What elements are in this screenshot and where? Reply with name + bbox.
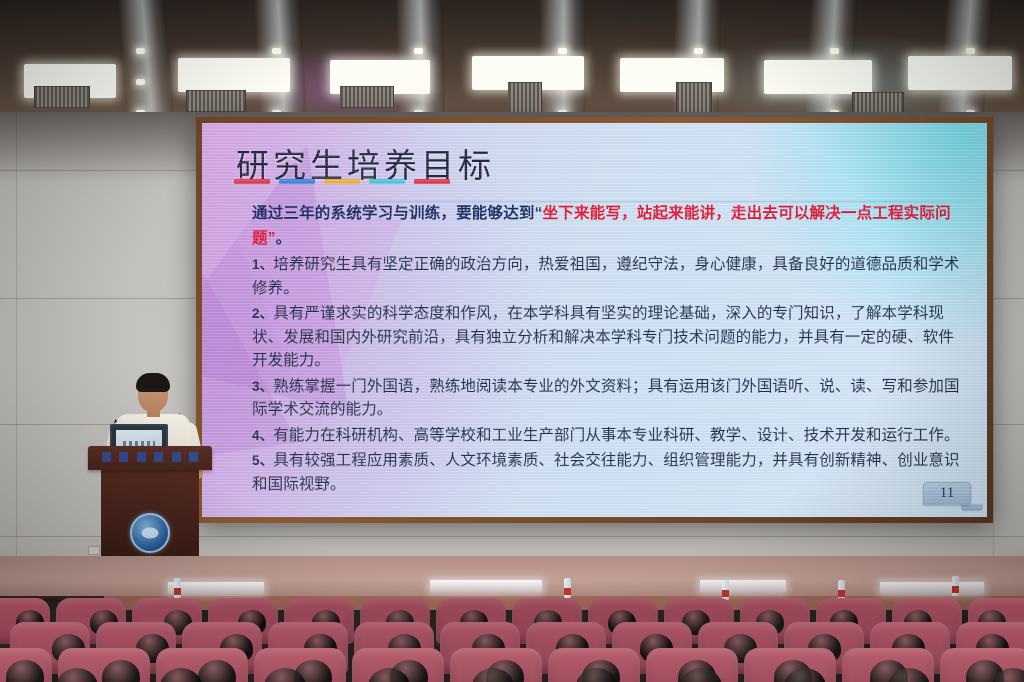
slide-body: 通过三年的系统学习与训练，要能够达到“坐下来能写，站起来能讲，走出去可以解决一点… — [252, 201, 965, 496]
slide-lead-paragraph: 通过三年的系统学习与训练，要能够达到“坐下来能写，站起来能讲，走出去可以解决一点… — [252, 201, 965, 251]
ceiling-downlight — [272, 48, 281, 54]
podium — [88, 446, 212, 568]
projection-screen: 研究生培养目标 通过三年的系统学习与训练，要能够达到“坐下来能写，站起来能讲，走… — [202, 123, 987, 517]
ceiling-downlight — [830, 48, 839, 54]
podium-lettering — [102, 452, 198, 463]
slide-item-text: 具有较强工程应用素质、人文环境素质、社会交往能力、组织管理能力，并具有创新精神、… — [252, 452, 960, 493]
accent-dash-5 — [414, 179, 450, 184]
ceiling-downlight — [558, 48, 567, 54]
ceiling-vent — [852, 92, 904, 114]
slide-item-5: 5、具有较强工程应用素质、人文环境素质、社会交往能力、组织管理能力，并具有创新精… — [252, 449, 965, 496]
slide-item-text: 具有严谨求实的科学态度和作风，在本学科具有坚实的理论基础，深入的专门知识，了解本… — [252, 305, 954, 369]
audience-water-bottle — [838, 580, 845, 600]
lecture-hall-photo: 研究生培养目标 通过三年的系统学习与训练，要能够达到“坐下来能写，站起来能讲，走… — [0, 0, 1024, 682]
ceiling-downlight — [966, 48, 975, 54]
lead-quote-close: ” — [268, 230, 276, 247]
accent-dash-2 — [279, 179, 315, 184]
ceiling-beam — [118, 0, 175, 122]
page-number-badge: 11 — [923, 482, 971, 505]
slide-item-3: 3、熟练掌握一门外国语，熟练地阅读本专业的外文资料；具有运用该门外国语听、说、读… — [252, 375, 965, 422]
slide-item-2: 2、具有严谨求实的科学态度和作风，在本学科具有坚实的理论基础，深入的专门知识，了… — [252, 302, 965, 373]
university-emblem-icon — [130, 513, 170, 553]
page-badge-tail — [961, 504, 983, 511]
slide-item-number: 4、 — [252, 428, 273, 443]
rear-light-strip — [168, 582, 264, 594]
rear-light-strip — [700, 580, 786, 592]
slide-item-4: 4、有能力在科研机构、高等学校和工业生产部门从事本专业科研、教学、设计、技术开发… — [252, 424, 965, 448]
audience-area — [0, 556, 1024, 682]
lead-normal-2: 。 — [276, 230, 292, 247]
accent-dash-3 — [324, 179, 360, 184]
rear-light-strip — [430, 580, 542, 592]
presenter-glasses — [140, 389, 167, 395]
slide-item-text: 培养研究生具有坚定正确的政治方向，热爱祖国，遵纪守法，身心健康，具备良好的道德品… — [252, 256, 960, 297]
ceiling-vent — [186, 90, 246, 112]
audience-water-bottle — [174, 578, 181, 598]
accent-dash-4 — [369, 179, 405, 184]
slide-item-list: 1、培养研究生具有坚定正确的政治方向，热爱祖国，遵纪守法，身心健康，具备良好的道… — [252, 253, 965, 496]
slide-item-number: 2、 — [252, 306, 273, 321]
audience-water-bottle — [564, 578, 571, 598]
ceiling-vent — [34, 86, 90, 108]
ceiling-panel-light — [908, 56, 1012, 90]
ceiling-panel-light — [764, 60, 872, 94]
ceiling-downlight — [136, 79, 145, 85]
lead-quote-open: “ — [535, 205, 543, 222]
ceiling-downlight — [694, 48, 703, 54]
slide-item-1: 1、培养研究生具有坚定正确的政治方向，热爱祖国，遵纪守法，身心健康，具备良好的道… — [252, 253, 965, 300]
slide-item-number: 5、 — [252, 453, 273, 468]
projection-screen-frame: 研究生培养目标 通过三年的系统学习与训练，要能够达到“坐下来能写，站起来能讲，走… — [196, 117, 993, 523]
ceiling-downlight — [136, 48, 145, 54]
audience-water-bottle — [722, 580, 729, 600]
audience-water-bottle — [952, 576, 959, 596]
lead-normal-1: 通过三年的系统学习与训练，要能够达到 — [252, 205, 535, 222]
ceiling-downlight — [414, 48, 423, 54]
slide-item-text: 熟练掌握一门外国语，熟练地阅读本专业的外文资料；具有运用该门外国语听、说、读、写… — [252, 378, 960, 419]
podium-top — [88, 446, 212, 470]
ceiling — [0, 0, 1024, 122]
podium-body — [101, 469, 199, 568]
slide-item-text: 有能力在科研机构、高等学校和工业生产部门从事本专业科研、教学、设计、技术开发和运… — [273, 427, 959, 444]
accent-dash-1 — [234, 179, 270, 184]
ceiling-panel-light — [178, 58, 290, 92]
ceiling-vent — [340, 86, 394, 108]
slide-accent-dashes — [234, 179, 450, 184]
slide-item-number: 1、 — [252, 257, 273, 272]
slide-item-number: 3、 — [252, 379, 273, 394]
rear-light-strip — [880, 582, 984, 594]
